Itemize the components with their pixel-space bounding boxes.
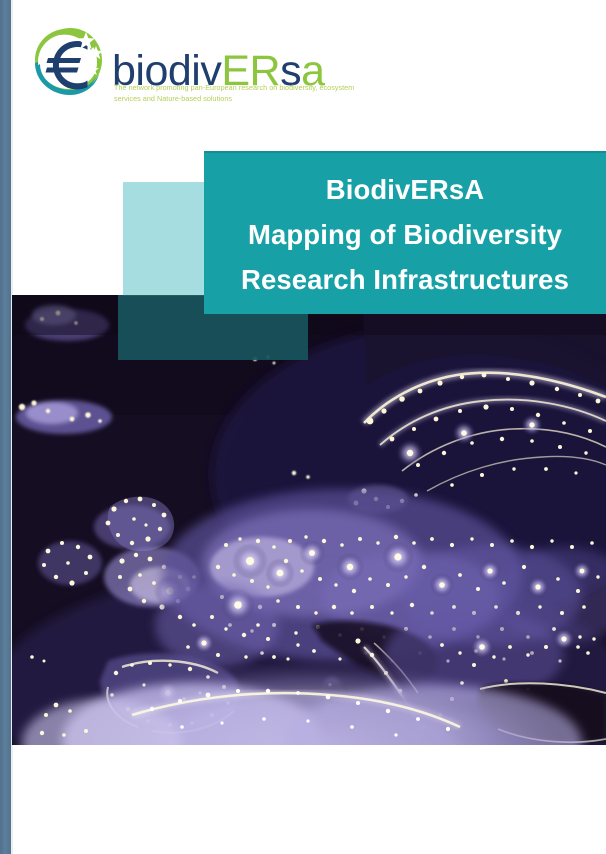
title-line-3: Research Infrastructures bbox=[204, 257, 606, 302]
title-line-2: Mapping of Biodiversity bbox=[204, 212, 606, 257]
cover-page: biodivERsa The network promoting pan-Eur… bbox=[0, 0, 606, 854]
logo-tagline: The network promoting pan-European resea… bbox=[114, 83, 364, 105]
title-band: BiodivERsA Mapping of Biodiversity Resea… bbox=[204, 151, 606, 314]
biodiversa-logo: biodivERsa The network promoting pan-Eur… bbox=[30, 24, 350, 106]
page-edge-strip bbox=[0, 0, 11, 854]
decor-square-light bbox=[123, 182, 207, 296]
euro-stars-circle-icon bbox=[30, 24, 110, 98]
europe-night-lights-satellite-photo bbox=[12, 295, 606, 745]
title-line-1: BiodivERsA bbox=[204, 167, 606, 212]
